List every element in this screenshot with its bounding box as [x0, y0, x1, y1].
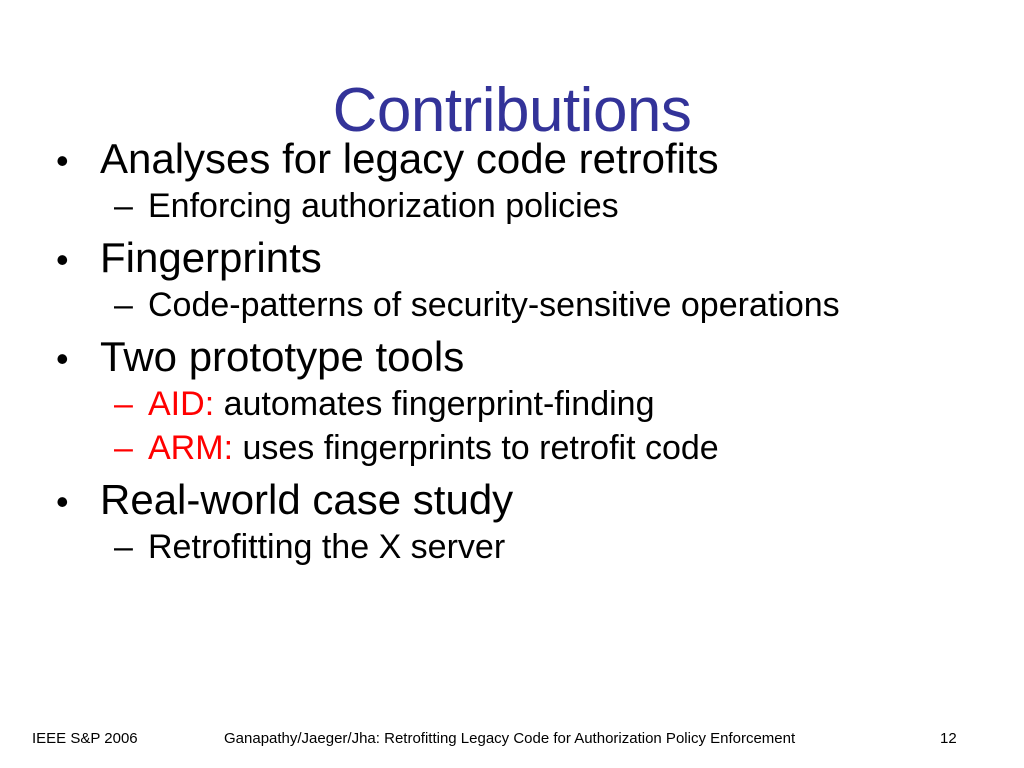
- slide-body: • Analyses for legacy code retrofits – E…: [56, 138, 1006, 574]
- slide-footer: IEEE S&P 2006 Ganapathy/Jaeger/Jha: Retr…: [0, 728, 1024, 750]
- bullet-level2: – ARM: uses fingerprints to retrofit cod…: [114, 431, 1006, 465]
- dash-icon: –: [114, 530, 148, 564]
- bullet-level1: • Analyses for legacy code retrofits: [56, 138, 1006, 180]
- bullet-level1: • Fingerprints: [56, 237, 1006, 279]
- bullet-level2: – Retrofitting the X server: [114, 530, 1006, 564]
- tool-name-accent: ARM: [148, 429, 224, 467]
- bullet-level2: – Code-patterns of security-sensitive op…: [114, 288, 1006, 322]
- bullet-group: • Two prototype tools – AID: automates f…: [56, 336, 1006, 465]
- bullet-level2-label: Retrofitting the X server: [148, 530, 505, 564]
- bullet-dot-icon: •: [56, 242, 100, 278]
- footer-page-number: 12: [940, 728, 957, 750]
- bullet-level1: • Two prototype tools: [56, 336, 1006, 378]
- bullet-group: • Fingerprints – Code-patterns of securi…: [56, 237, 1006, 322]
- bullet-level1-label: Two prototype tools: [100, 336, 464, 378]
- bullet-dot-icon: •: [56, 143, 100, 179]
- bullet-level2-content: ARM: uses fingerprints to retrofit code: [148, 431, 719, 465]
- bullet-group: • Analyses for legacy code retrofits – E…: [56, 138, 1006, 223]
- bullet-level2: – Enforcing authorization policies: [114, 189, 1006, 223]
- bullet-level1-label: Analyses for legacy code retrofits: [100, 138, 719, 180]
- bullet-dot-icon: •: [56, 341, 100, 377]
- dash-icon: –: [114, 288, 148, 322]
- accent-separator: :: [205, 385, 214, 423]
- bullet-level1: • Real-world case study: [56, 479, 1006, 521]
- bullet-level1-label: Real-world case study: [100, 479, 513, 521]
- bullet-level1-label: Fingerprints: [100, 237, 322, 279]
- bullet-level2: – AID: automates fingerprint-finding: [114, 387, 1006, 421]
- bullet-dot-icon: •: [56, 484, 100, 520]
- page-title: Contributions: [0, 78, 1024, 143]
- bullet-level2-content: AID: automates fingerprint-finding: [148, 387, 655, 421]
- bullet-level2-label: uses fingerprints to retrofit code: [233, 429, 719, 467]
- footer-venue: IEEE S&P 2006: [32, 728, 138, 750]
- tool-name-accent: AID: [148, 385, 205, 423]
- bullet-level2-label: Code-patterns of security-sensitive oper…: [148, 288, 840, 322]
- dash-icon: –: [114, 431, 148, 465]
- footer-citation: Ganapathy/Jaeger/Jha: Retrofitting Legac…: [224, 728, 795, 750]
- bullet-level2-label: automates fingerprint-finding: [214, 385, 654, 423]
- presentation-slide: Contributions • Analyses for legacy code…: [0, 0, 1024, 768]
- bullet-level2-label: Enforcing authorization policies: [148, 189, 619, 223]
- dash-icon: –: [114, 387, 148, 421]
- accent-separator: :: [224, 429, 233, 467]
- dash-icon: –: [114, 189, 148, 223]
- bullet-group: • Real-world case study – Retrofitting t…: [56, 479, 1006, 564]
